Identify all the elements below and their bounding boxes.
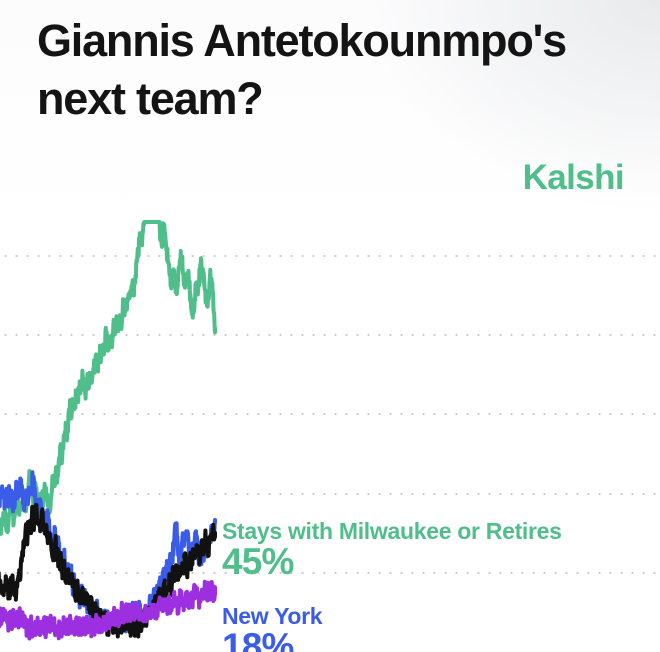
kalshi-market-chart-card: Giannis Antetokounmpo's next team? Kalsh… xyxy=(0,0,660,652)
page-title: Giannis Antetokounmpo's next team? xyxy=(37,12,637,128)
legend-item-new-york[interactable]: New York 18% xyxy=(222,603,322,652)
kalshi-brand-logo: Kalshi xyxy=(523,158,624,198)
chart-series-svg xyxy=(0,220,660,652)
legend-value: 45% xyxy=(222,542,562,582)
chart-area: Stays with Milwaukee or Retires 45% New … xyxy=(0,220,660,652)
legend-value: 18% xyxy=(222,627,322,652)
card-header: Giannis Antetokounmpo's next team? Kalsh… xyxy=(0,0,660,220)
chart-plot xyxy=(0,220,660,652)
legend-item-stays-with-milwaukee-or-retires[interactable]: Stays with Milwaukee or Retires 45% xyxy=(222,518,562,582)
